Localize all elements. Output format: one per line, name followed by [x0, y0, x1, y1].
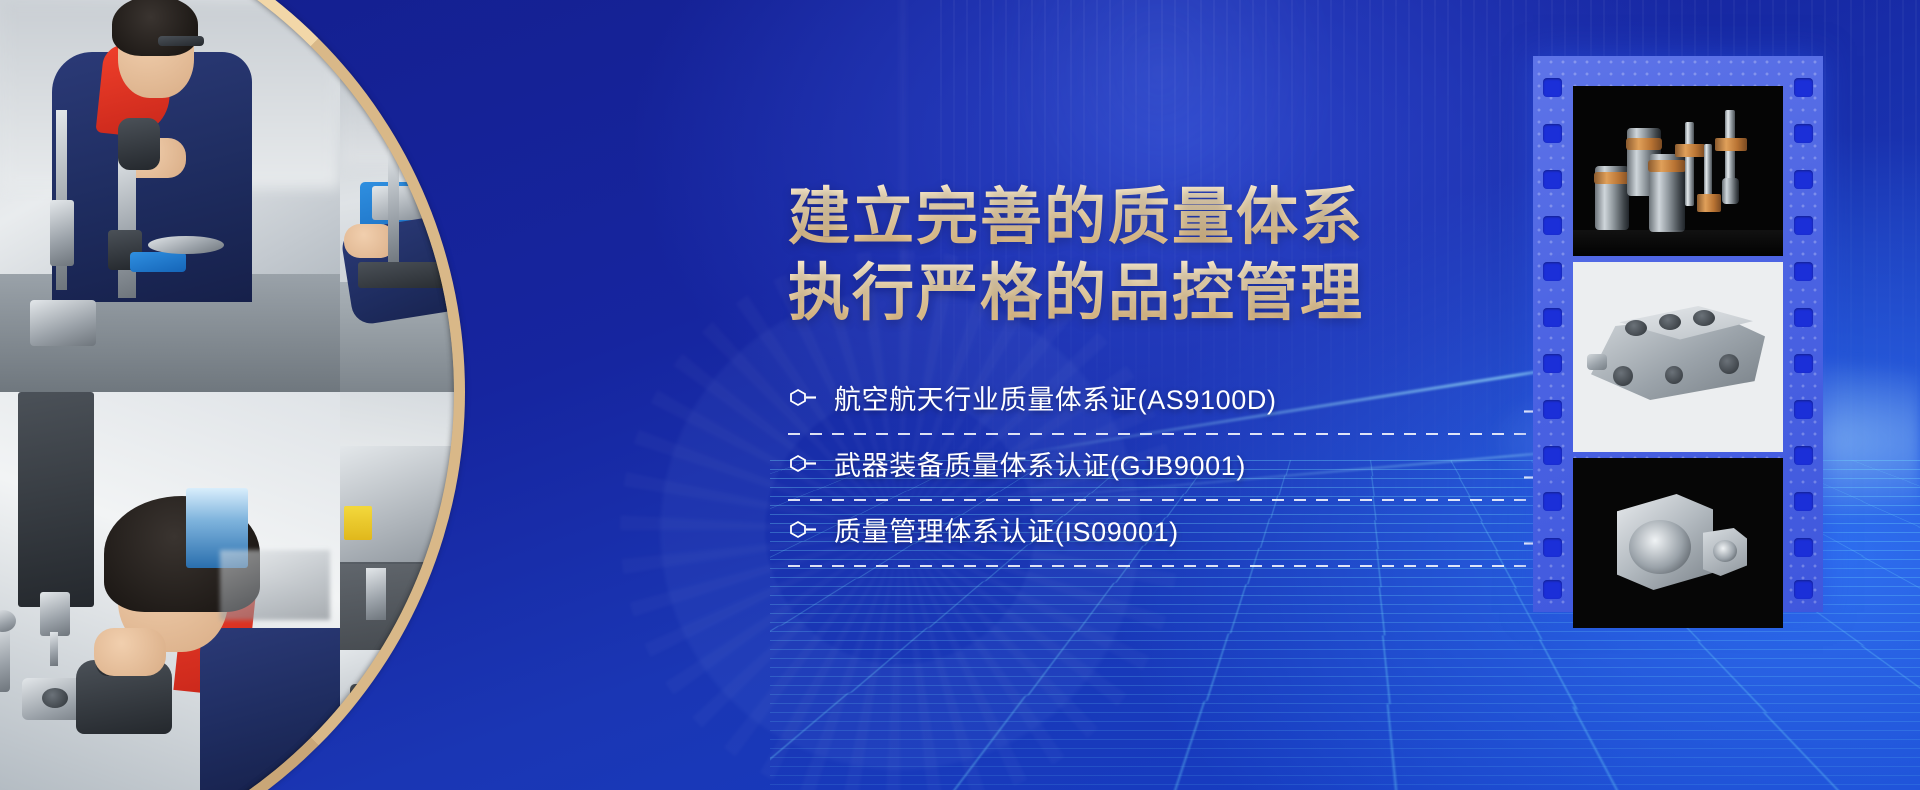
filmstrip-perforation: [1794, 580, 1813, 599]
filmstrip-perforation: [1794, 354, 1813, 373]
filmstrip-perforation: [1794, 124, 1813, 143]
filmstrip-perforation: [1794, 216, 1813, 235]
filmstrip-perforation: [1543, 124, 1562, 143]
filmstrip-perforation: [1543, 354, 1562, 373]
certification-label: 质量管理体系认证(IS09001): [834, 510, 1179, 549]
filmstrip-perforation: [1794, 170, 1813, 189]
filmstrip-perforation: [1543, 538, 1562, 557]
filmstrip-perforation: [1543, 170, 1562, 189]
filmstrip-perforation: [1543, 492, 1562, 511]
hexagon-dash-icon: [788, 519, 818, 539]
filmstrip-perforation: [1794, 538, 1813, 557]
certification-item: 武器装备质量体系认证(GJB9001): [788, 439, 1468, 505]
filmstrip-perforation: [1794, 78, 1813, 97]
filmstrip-perforation: [1794, 446, 1813, 465]
hexagon-dash-icon: [788, 387, 818, 407]
headline-line-2: 执行严格的品控管理: [788, 256, 1468, 332]
headline-line-1: 建立完善的质量体系: [788, 180, 1468, 256]
certification-list: 航空航天行业质量体系证(AS9100D) 武器装备质量体系认证(GJB9001): [788, 373, 1468, 571]
filmstrip-perforation: [1543, 262, 1562, 281]
certification-item: 质量管理体系认证(IS09001): [788, 505, 1468, 571]
filmstrip-perforation: [1794, 308, 1813, 327]
product-bearing-block: [1573, 458, 1783, 628]
filmstrip-perforation: [1543, 78, 1562, 97]
product-filmstrip: [1533, 56, 1823, 612]
filmstrip-perforation: [1794, 262, 1813, 281]
filmstrip-perforation: [1794, 400, 1813, 419]
filmstrip-perforation: [1543, 446, 1562, 465]
product-precision-bushings: [1573, 86, 1783, 256]
filmstrip-perforation: [1543, 216, 1562, 235]
certification-divider: [788, 499, 1558, 501]
certification-divider: [788, 565, 1558, 567]
certification-label: 武器装备质量体系认证(GJB9001): [834, 444, 1246, 483]
certification-label: 航空航天行业质量体系证(AS9100D): [834, 378, 1277, 417]
certification-item: 航空航天行业质量体系证(AS9100D): [788, 373, 1468, 439]
hexagon-dash-icon: [788, 453, 818, 473]
banner-content: 建立完善的质量体系 执行严格的品控管理 航空航天行业质量体系证(AS9100D): [788, 180, 1468, 571]
filmstrip-perforation: [1543, 580, 1562, 599]
filmstrip-perforation: [1543, 308, 1562, 327]
filmstrip-perforation: [1794, 492, 1813, 511]
certification-divider: [788, 433, 1558, 435]
filmstrip-perforation: [1543, 400, 1562, 419]
product-aluminum-housing: [1573, 262, 1783, 452]
quality-system-banner: 建立完善的质量体系 执行严格的品控管理 航空航天行业质量体系证(AS9100D): [0, 0, 1920, 790]
